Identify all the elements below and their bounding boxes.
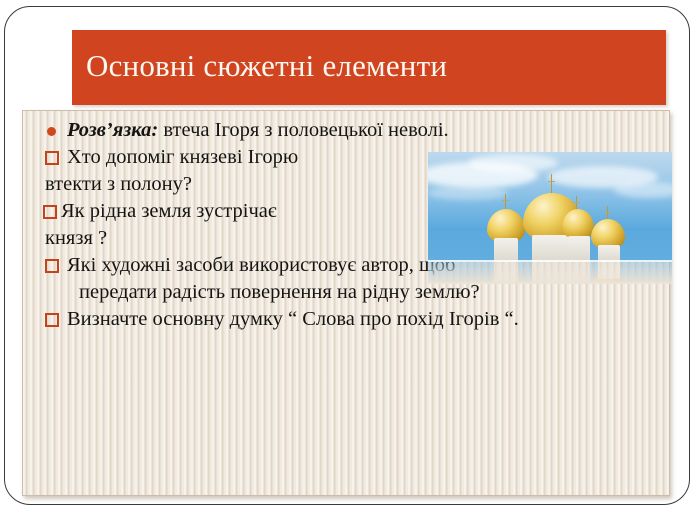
dome-drum bbox=[568, 236, 590, 262]
list-item-text: Які художні засоби використовує автор, щ… bbox=[67, 254, 455, 276]
photo-sky-background bbox=[428, 152, 672, 262]
photo-reflection-fade bbox=[428, 262, 672, 284]
dome-cross bbox=[548, 181, 555, 182]
list-item: Визначте основну думку “ Слова про похід… bbox=[23, 306, 669, 333]
dome-drum bbox=[494, 238, 518, 262]
dome-spire bbox=[505, 194, 506, 210]
list-item-text: Хто допоміг князеві Ігорю bbox=[67, 146, 298, 168]
list-item-lead: Розв’язка: bbox=[67, 119, 158, 141]
dome-spire bbox=[576, 196, 577, 210]
presentation-slide: Основні сюжетні елементи Розв’язка: втеч… bbox=[0, 0, 700, 525]
golden-church-domes-photo bbox=[428, 152, 672, 262]
dome-shape bbox=[562, 209, 594, 239]
list-item-text: Як рідна земля зустрічає bbox=[61, 200, 277, 222]
dome-spire bbox=[607, 206, 608, 220]
dome-drum bbox=[532, 235, 572, 262]
list-item: Розв’язка: втеча Ігоря з половецької нев… bbox=[23, 117, 669, 144]
cloud-shape bbox=[428, 186, 508, 200]
dome-cross bbox=[604, 212, 611, 213]
page-title: Основні сюжетні елементи bbox=[86, 46, 666, 86]
list-item-text: Визначте основну думку “ Слова про похід… bbox=[67, 308, 519, 330]
dome-cross bbox=[573, 202, 580, 203]
dome-cross bbox=[502, 200, 509, 201]
list-item-text: втеча Ігоря з половецької неволі. bbox=[158, 119, 448, 141]
cloud-shape bbox=[614, 182, 672, 198]
list-item-text: князя ? bbox=[45, 227, 107, 249]
list-item-text: передати радість повернення на рідну зем… bbox=[79, 281, 480, 303]
dome-spire bbox=[551, 174, 552, 194]
cloud-shape bbox=[468, 154, 558, 172]
list-item-text: втекти з полону? bbox=[45, 173, 192, 195]
